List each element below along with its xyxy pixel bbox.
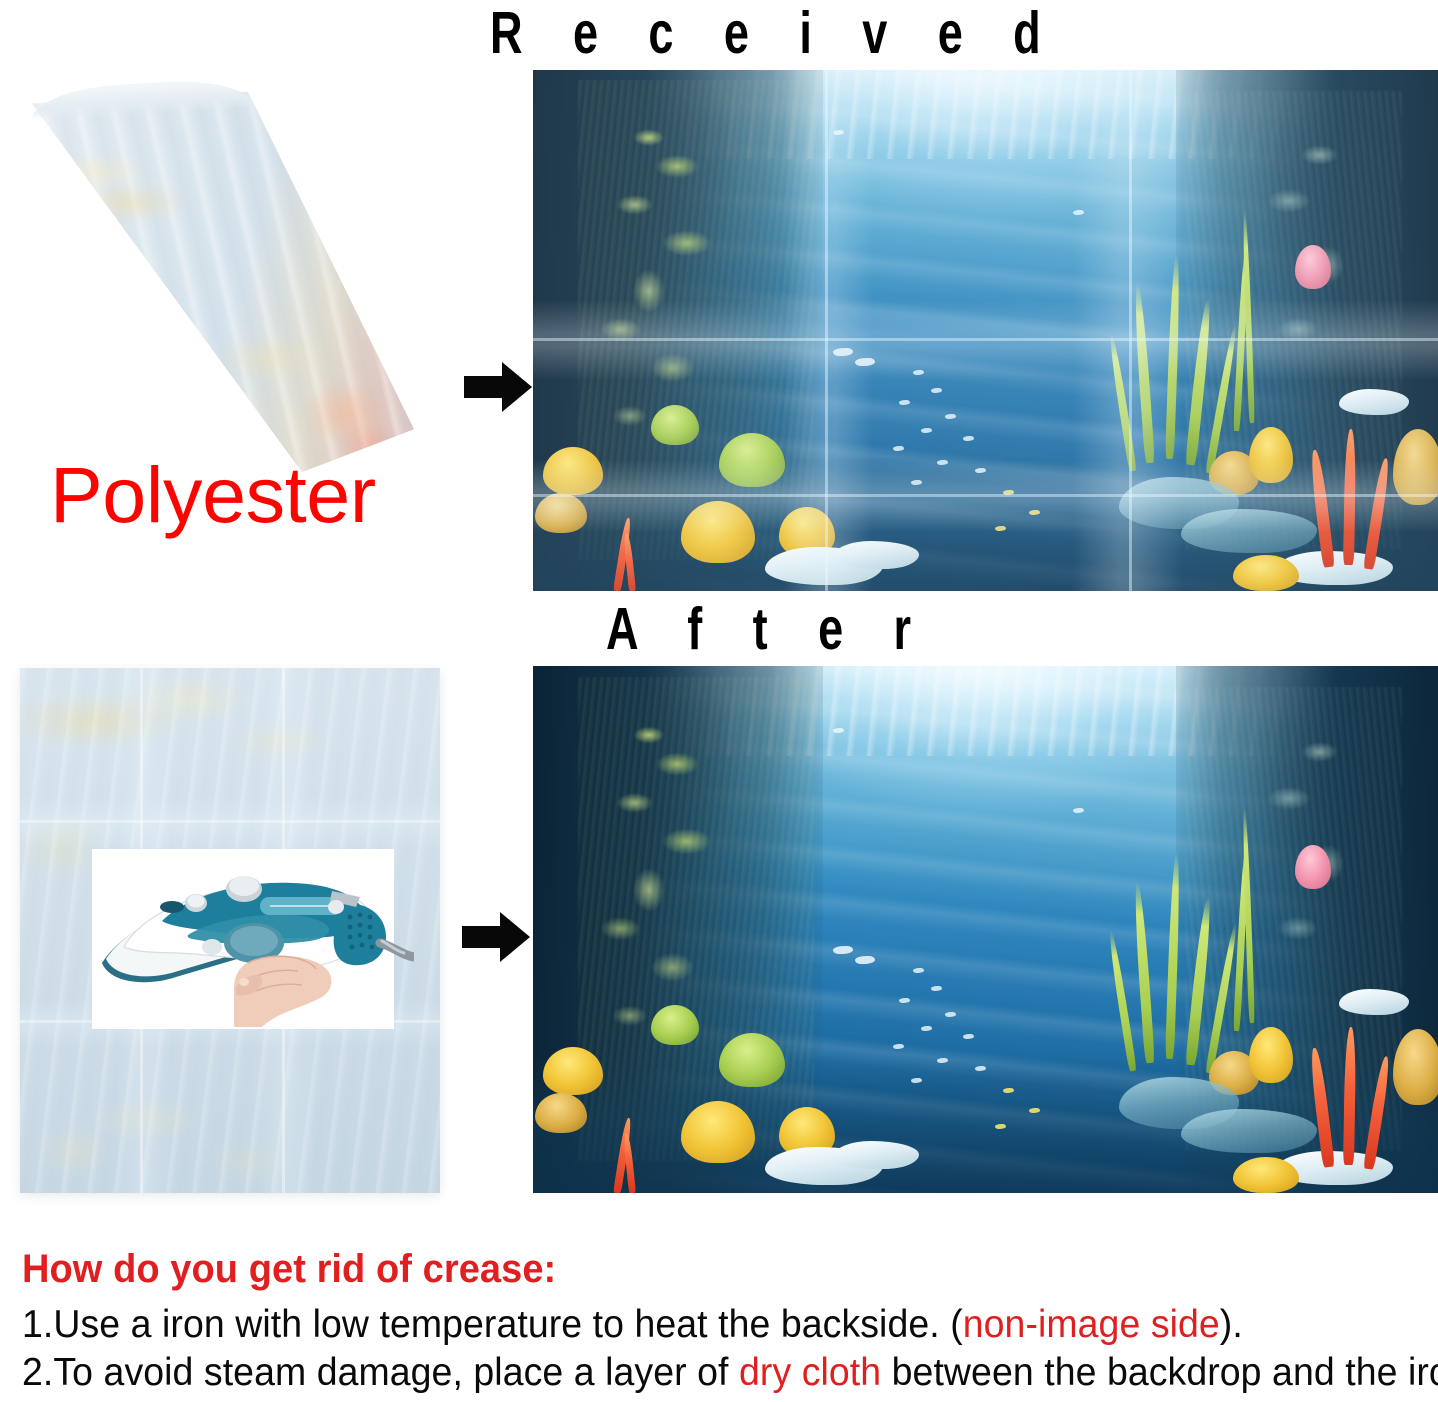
coral-cluster [651,405,699,445]
iron-steam-button-top [229,876,259,896]
after-section-title: A f t e r [606,600,930,660]
coral-cluster [651,1005,699,1045]
arrow-head [500,912,530,962]
reef-rock [1181,1109,1317,1153]
reef-rock [1339,389,1409,415]
instruction-2-highlight: dry cloth [739,1351,881,1394]
steam-iron-illustration [84,851,414,1027]
right-arrow-icon [462,912,532,962]
arrow-shaft [464,376,504,398]
thumbnail [239,978,249,986]
iron-water-window [160,901,184,913]
iron-cord-collar [328,900,344,914]
instruction-line-1: 1.Use a iron with low temperature to hea… [22,1303,1366,1348]
instruction-1-prefix: 1.Use a iron with low temperature to hea… [22,1303,963,1346]
instruction-line-2: 2.To avoid steam damage, place a layer o… [22,1351,1366,1396]
received-section-title: R e c e i v e d [490,4,1060,64]
coral-cluster [535,493,587,533]
instruction-2-suffix: between the backdrop and the iron. [881,1351,1438,1394]
fabric-print-wisps [18,86,418,476]
after-backdrop-image [533,666,1438,1193]
coral-cluster [1233,555,1299,591]
reef-rock [833,1141,919,1169]
coral-cluster [1295,845,1331,889]
instruction-2-prefix: 2.To avoid steam damage, place a layer o… [22,1351,739,1394]
reef-rock [833,541,919,569]
arrow-head [502,362,532,412]
instruction-1-highlight: non-image side [963,1303,1220,1346]
coral-cluster [535,1093,587,1133]
coral-cluster [1233,1157,1299,1193]
iron-temperature-dial-face [230,926,278,956]
polyester-material-label: Polyester [50,455,376,534]
instructions-heading: How do you get rid of crease: [22,1246,1352,1293]
reef-rock [1181,509,1317,553]
iron-spray-button-top [188,895,205,908]
received-backdrop-image [533,70,1438,591]
instruction-1-suffix: ). [1220,1303,1243,1346]
iron-dial-marker [202,939,222,955]
polyester-fabric-swatch [18,86,418,476]
arrow-shaft [462,926,502,948]
coral-cluster [1295,245,1331,289]
reef-rock [1339,989,1409,1015]
iron-photo-block [92,849,394,1029]
right-arrow-icon [464,362,534,412]
instructions-block: How do you get rid of crease: 1.Use a ir… [22,1246,1422,1396]
